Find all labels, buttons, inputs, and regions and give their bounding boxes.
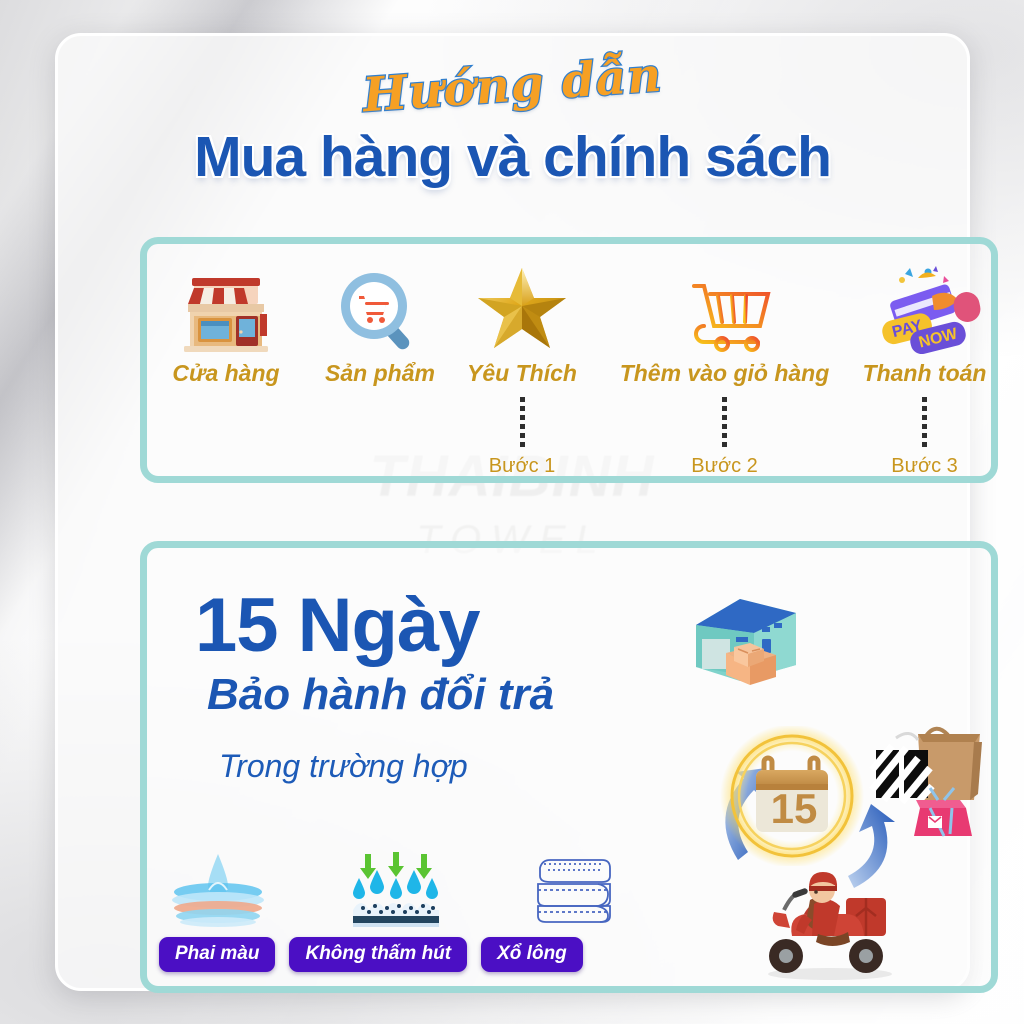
step-item-favorite[interactable]: Yêu Thích Bước 1 <box>437 258 607 478</box>
step-connector-dots <box>520 397 525 449</box>
step-item-add-to-cart[interactable]: Thêm vào giỏ hàng Bước 2 <box>602 258 847 478</box>
feature-badges-row: Phai màu Không thấm hút Xổ lông <box>159 937 583 972</box>
step-label: Yêu Thích <box>437 360 607 387</box>
calendar-15-icon: 15 <box>718 726 866 866</box>
gold-star-icon <box>437 258 607 354</box>
step-item-store[interactable]: Cửa hàng <box>141 258 311 387</box>
storefront-icon <box>141 258 311 354</box>
delivery-scooter-icon <box>748 864 912 982</box>
step-number: Bước 1 <box>437 455 607 478</box>
warehouse-icon <box>678 581 808 703</box>
warranty-condition: Trong trường hợp <box>219 748 468 785</box>
warranty-days: 15 Ngày <box>195 582 480 669</box>
step-connector-dots <box>922 397 927 449</box>
warranty-subtitle: Bảo hành đổi trả <box>207 670 554 720</box>
shopping-cart-icon <box>602 258 847 354</box>
water-repellent-icon <box>341 848 451 928</box>
pay-now-card-icon: PAY NOW <box>837 258 1012 354</box>
water-layers-icon <box>163 848 273 928</box>
page-title: Mua hàng và chính sách <box>58 124 967 190</box>
step-label: Thêm vào giỏ hàng <box>602 360 847 387</box>
calendar-number: 15 <box>771 785 818 832</box>
step-connector-dots <box>722 397 727 449</box>
folded-towels-icon <box>519 848 629 928</box>
badge-lint[interactable]: Xổ lông <box>481 937 583 972</box>
gift-cluster-icon <box>866 708 998 848</box>
badge-not-absorbent[interactable]: Không thấm hút <box>289 937 467 972</box>
step-item-payment[interactable]: PAY NOW Thanh toán Bước 3 <box>837 258 1012 478</box>
steps-row: Cửa hàng <box>147 244 991 476</box>
steps-panel: Cửa hàng <box>140 237 998 483</box>
step-label: Cửa hàng <box>141 360 311 387</box>
fabric-icons-row <box>163 848 629 928</box>
step-number: Bước 3 <box>837 455 1012 478</box>
main-card: Hướng dẫn Mua hàng và chính sách <box>55 33 970 991</box>
step-label: Thanh toán <box>837 360 1012 387</box>
step-number: Bước 2 <box>602 455 847 478</box>
badge-fade-color[interactable]: Phai màu <box>159 937 275 972</box>
